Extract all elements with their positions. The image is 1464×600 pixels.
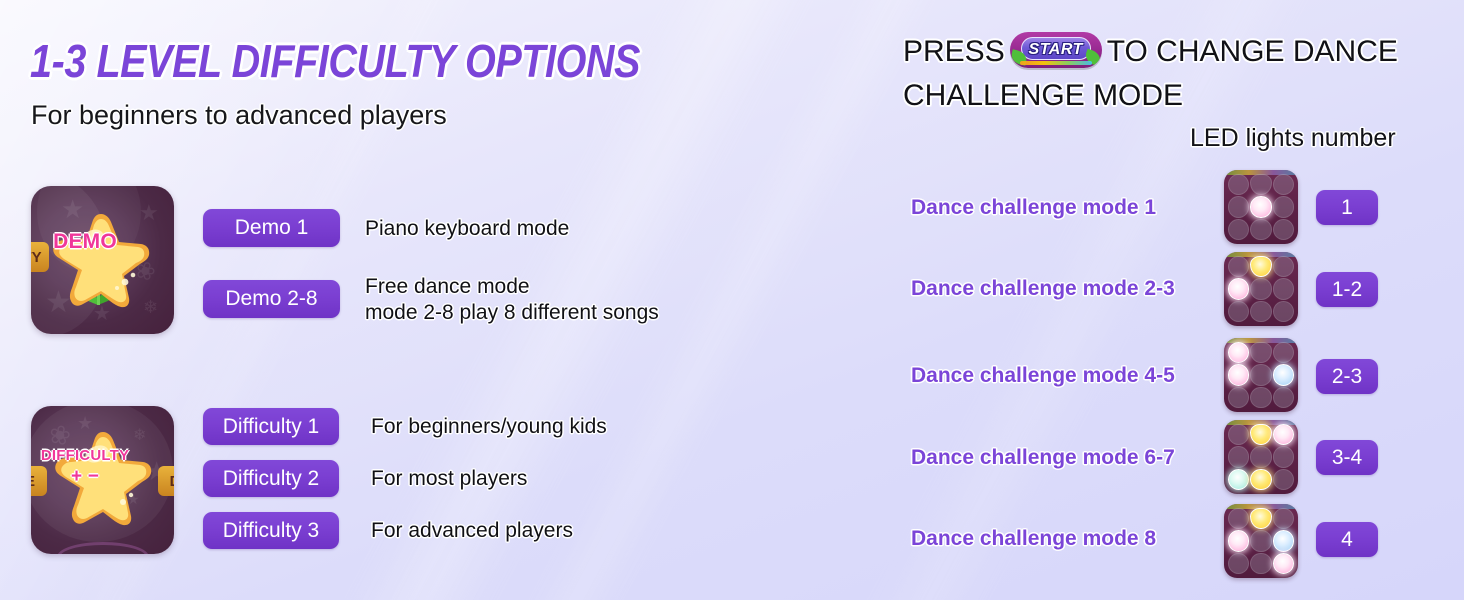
card-arc xyxy=(57,542,149,554)
led-cell xyxy=(1228,219,1249,240)
led-grid xyxy=(1224,504,1298,578)
led-count-badge: 3-4 xyxy=(1316,440,1378,475)
led-cell xyxy=(1250,196,1271,217)
difficulty-plus-minus-label: + − xyxy=(31,466,139,488)
led-cell xyxy=(1250,219,1271,240)
led-cell xyxy=(1273,196,1294,217)
led-cell xyxy=(1250,387,1271,408)
led-cell xyxy=(1250,256,1271,277)
led-cell xyxy=(1228,196,1249,217)
led-cell xyxy=(1228,553,1249,574)
dance-mode-label: Dance challenge mode 2-3 xyxy=(911,277,1175,301)
led-cell xyxy=(1273,342,1294,363)
difficulty-1-description: For beginners/young kids xyxy=(371,414,607,440)
led-cell xyxy=(1228,387,1249,408)
demo-2-8-pill[interactable]: Demo 2-8 xyxy=(203,280,340,318)
page-subtitle: For beginners to advanced players xyxy=(31,100,447,131)
difficulty-star-label: DIFFICULTY xyxy=(31,447,139,464)
led-cell xyxy=(1273,446,1294,467)
led-grid xyxy=(1224,170,1298,244)
led-cell xyxy=(1250,364,1271,385)
led-cell xyxy=(1228,508,1249,529)
led-cell xyxy=(1228,364,1249,385)
heading-line-2: CHALLENGE MODE xyxy=(903,74,1433,118)
dance-mode-label: Dance challenge mode 6-7 xyxy=(911,446,1175,470)
led-cell xyxy=(1228,342,1249,363)
heading-action-text: TO CHANGE DANCE xyxy=(1107,35,1398,68)
led-cell xyxy=(1273,278,1294,299)
difficulty-mode-card: ★ ❄ ★ ★ ❀ E D DIFFICULTY + − xyxy=(31,406,174,554)
led-cell xyxy=(1250,174,1271,195)
led-cell xyxy=(1273,256,1294,277)
heading-press-text: PRESS xyxy=(903,35,1005,68)
led-cell xyxy=(1250,301,1271,322)
led-cell xyxy=(1228,530,1249,551)
led-cell xyxy=(1228,278,1249,299)
demo-1-description: Piano keyboard mode xyxy=(365,216,569,242)
led-cell xyxy=(1250,446,1271,467)
difficulty-2-description: For most players xyxy=(371,466,527,492)
demo-mode-card: ★ ★ ★ ★ ❄ ❀ TY DEMO xyxy=(31,186,174,334)
led-cell xyxy=(1273,424,1294,445)
dance-mode-label: Dance challenge mode 1 xyxy=(911,196,1156,220)
led-cell xyxy=(1250,469,1271,490)
start-button-label: START xyxy=(1010,32,1102,68)
page-title: 1-3 LEVEL DIFFICULTY OPTIONS xyxy=(30,35,640,87)
difficulty-3-description: For advanced players xyxy=(371,518,573,544)
led-cell xyxy=(1273,174,1294,195)
demo-star-label: DEMO xyxy=(31,230,139,254)
led-cell xyxy=(1228,301,1249,322)
infographic-page: 1-3 LEVEL DIFFICULTY OPTIONS For beginne… xyxy=(0,0,1464,600)
difficulty-2-pill[interactable]: Difficulty 2 xyxy=(203,460,339,497)
led-grid xyxy=(1224,252,1298,326)
led-cell xyxy=(1273,364,1294,385)
led-cell xyxy=(1273,469,1294,490)
led-cell xyxy=(1273,387,1294,408)
dance-mode-label: Dance challenge mode 4-5 xyxy=(911,364,1175,388)
right-heading: PRESS START TO CHANGE DANCE CHALLENGE MO… xyxy=(903,30,1433,118)
led-count-badge: 4 xyxy=(1316,522,1378,557)
led-cell xyxy=(1273,553,1294,574)
led-cell xyxy=(1228,256,1249,277)
demo-2-8-description: Free dance mode mode 2-8 play 8 differen… xyxy=(365,274,659,326)
demo-1-pill[interactable]: Demo 1 xyxy=(203,209,340,247)
led-cell xyxy=(1228,469,1249,490)
led-cell xyxy=(1273,508,1294,529)
led-lights-caption: LED lights number xyxy=(1190,124,1396,153)
led-cell xyxy=(1228,424,1249,445)
led-grid xyxy=(1224,420,1298,494)
led-grid xyxy=(1224,338,1298,412)
difficulty-3-pill[interactable]: Difficulty 3 xyxy=(203,512,339,549)
led-cell xyxy=(1250,508,1271,529)
led-cell xyxy=(1250,530,1271,551)
led-cell xyxy=(1273,301,1294,322)
led-cell xyxy=(1250,342,1271,363)
led-count-badge: 1 xyxy=(1316,190,1378,225)
demo-star-icon xyxy=(47,208,155,312)
side-tab-right: D xyxy=(158,466,174,496)
led-cell xyxy=(1250,553,1271,574)
led-cell xyxy=(1250,278,1271,299)
led-cell xyxy=(1250,424,1271,445)
led-count-badge: 2-3 xyxy=(1316,359,1378,394)
difficulty-1-pill[interactable]: Difficulty 1 xyxy=(203,408,339,445)
led-count-badge: 1-2 xyxy=(1316,272,1378,307)
led-cell xyxy=(1273,219,1294,240)
dance-mode-label: Dance challenge mode 8 xyxy=(911,527,1156,551)
led-cell xyxy=(1273,530,1294,551)
led-cell xyxy=(1228,174,1249,195)
start-button-icon[interactable]: START xyxy=(1010,32,1102,68)
led-cell xyxy=(1228,446,1249,467)
